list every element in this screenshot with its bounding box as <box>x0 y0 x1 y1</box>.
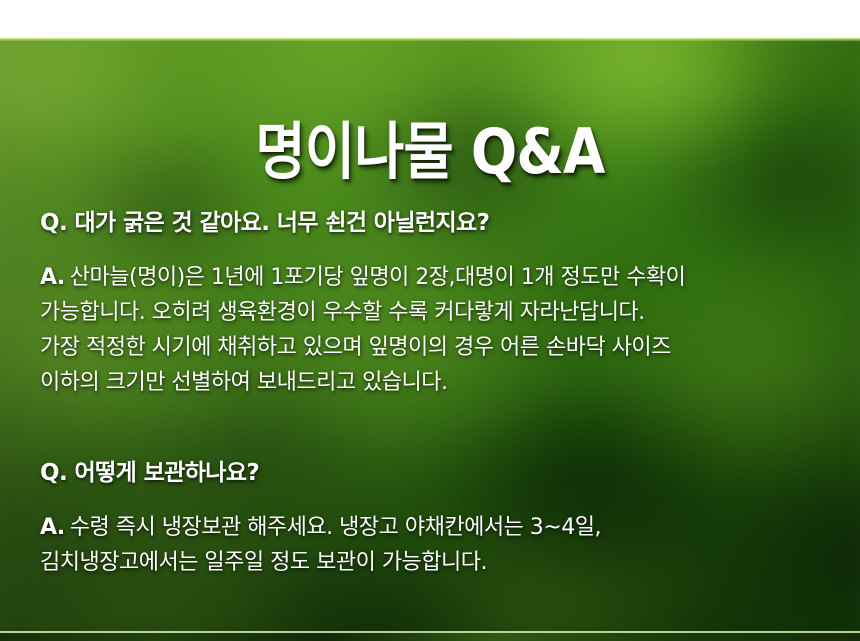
qa-banner-page: 명이나물 Q&A Q. 대가 굵은 것 같아요. 너무 쇤건 아닐런지요? A.… <box>0 0 860 641</box>
qa-block-1: Q. 대가 굵은 것 같아요. 너무 쇤건 아닐런지요? A.산마늘(명이)은 … <box>40 208 850 400</box>
page-title: 명이나물 Q&A <box>52 117 809 187</box>
question-1: Q. 대가 굵은 것 같아요. 너무 쇤건 아닐런지요? <box>40 208 850 238</box>
content-area: 명이나물 Q&A Q. 대가 굵은 것 같아요. 너무 쇤건 아닐런지요? A.… <box>0 38 860 641</box>
answer-1-line-2: 가능합니다. 오히려 생육환경이 우수할 수록 커다랗게 자라난답니다. <box>40 295 850 330</box>
answer-1: A.산마늘(명이)은 1년에 1포기당 잎명이 2장,대명이 1개 정도만 수확… <box>40 260 850 400</box>
top-white-band <box>0 0 860 38</box>
answer-2-line-2: 김치냉장고에서는 일주일 정도 보관이 가능합니다. <box>40 545 850 580</box>
answer-1-line-4: 이하의 크기만 선별하여 보내드리고 있습니다. <box>40 365 850 400</box>
answer-1-line-1: A.산마늘(명이)은 1년에 1포기당 잎명이 2장,대명이 1개 정도만 수확… <box>40 260 850 295</box>
answer-marker: A. <box>40 265 65 290</box>
answer-marker: A. <box>40 515 65 540</box>
qa-block-2: Q. 어떻게 보관하나요? A.수령 즉시 냉장보관 해주세요. 냉장고 야채칸… <box>40 458 850 580</box>
answer-2-text-1: 수령 즉시 냉장보관 해주세요. 냉장고 야채칸에서는 3~4일, <box>70 515 601 540</box>
answer-2-line-1: A.수령 즉시 냉장보관 해주세요. 냉장고 야채칸에서는 3~4일, <box>40 510 850 545</box>
answer-1-line-3: 가장 적정한 시기에 채취하고 있으며 잎명이의 경우 어른 손바닥 사이즈 <box>40 330 850 365</box>
answer-1-text-1: 산마늘(명이)은 1년에 1포기당 잎명이 2장,대명이 1개 정도만 수확이 <box>70 265 686 290</box>
answer-2: A.수령 즉시 냉장보관 해주세요. 냉장고 야채칸에서는 3~4일, 김치냉장… <box>40 510 850 580</box>
question-2: Q. 어떻게 보관하나요? <box>40 458 850 488</box>
bottom-dark-strip <box>0 633 860 641</box>
